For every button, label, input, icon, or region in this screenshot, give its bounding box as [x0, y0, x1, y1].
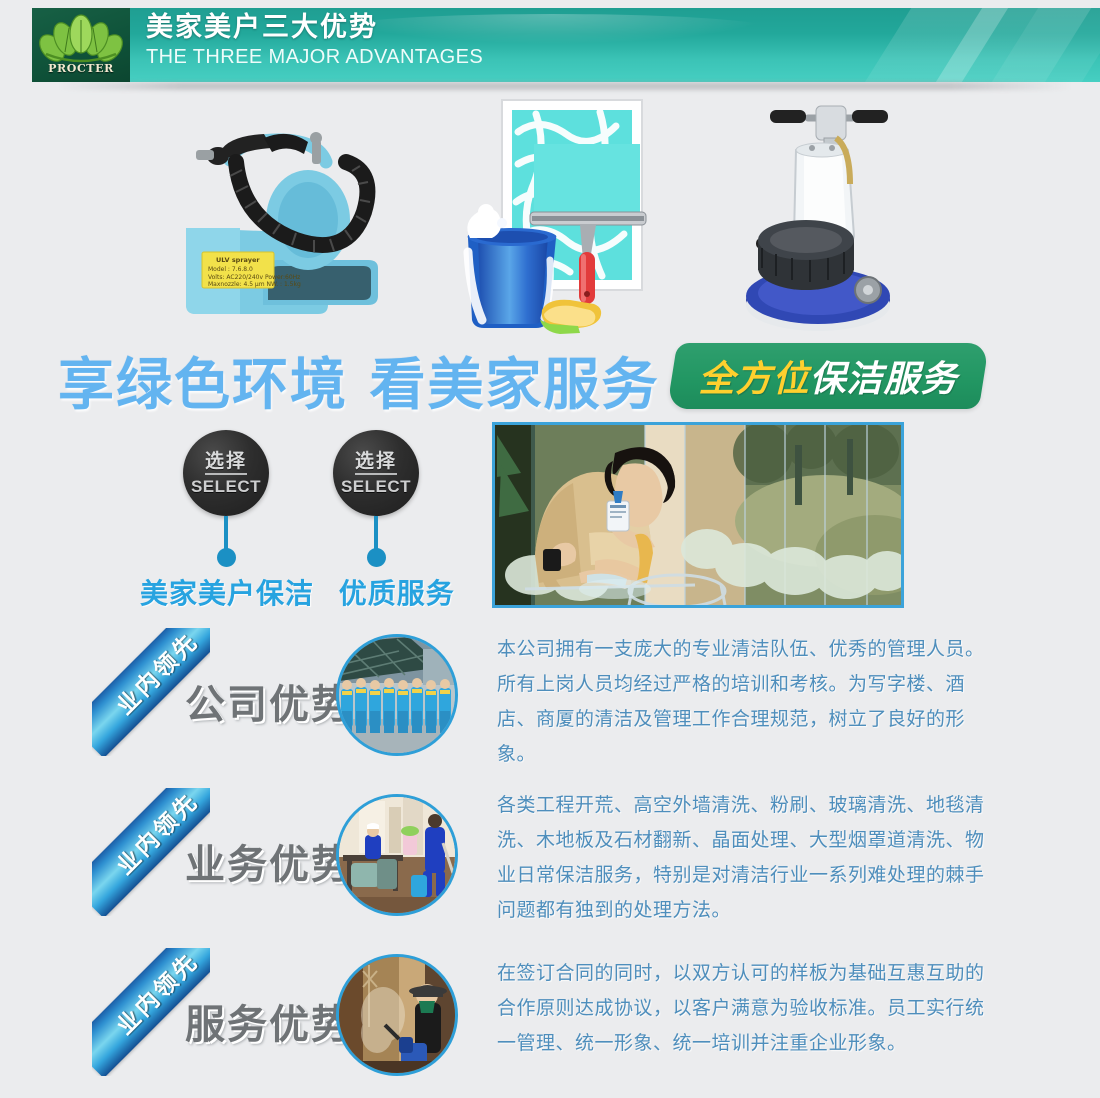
badge-label-row: 美家美户保洁 优质服务 — [140, 572, 455, 612]
header-text-group: 美家美户三大优势 THE THREE MAJOR ADVANTAGES — [146, 12, 483, 70]
advantage-text-1: 本公司拥有一支庞大的专业清洁队伍、优秀的管理人员。所有上岗人员均经过严格的培训和… — [497, 632, 1002, 772]
select-badge-circle[interactable]: 选择 SELECT — [183, 430, 269, 516]
select-badge-en-1: SELECT — [191, 477, 261, 497]
advantage-section-company: 业内领先 公司优势 — [0, 628, 1100, 778]
header-title-cn: 美家美户三大优势 — [146, 12, 483, 44]
svg-text:Model : 7.6.8.0: Model : 7.6.8.0 — [208, 266, 253, 273]
full-service-banner: 全方位 保洁服务 — [667, 343, 989, 409]
advantage-title-2: 业务优势 — [185, 832, 353, 890]
select-badge-circle[interactable]: 选择 SELECT — [333, 430, 419, 516]
brand-logo: PROCTER — [32, 8, 130, 82]
svg-text:Maxnozzle: 4.5 µm NW. : 1.5k: Maxnozzle: 4.5 µm NW. : 1.5kg — [208, 281, 301, 288]
advantage-text-3: 在签订合同的同时，以双方认可的样板为基础互惠互助的合作原则达成协议，以客户满意为… — [497, 956, 1002, 1061]
badge-label-2: 优质服务 — [339, 577, 455, 610]
badge-endpoint-dot — [217, 548, 236, 567]
badge-connector-line — [224, 516, 228, 550]
badge-connector-line — [374, 516, 378, 550]
main-headline: 享绿色环境 看美家服务 — [58, 340, 660, 421]
select-badge-2[interactable]: 选择 SELECT — [333, 430, 419, 567]
advantage-section-business: 业内领先 业务优势 — [0, 788, 1100, 938]
advantage-section-service: 业内领先 服务优势 — [0, 948, 1100, 1098]
advantage-thumb-team — [336, 634, 458, 756]
product-image-ulv-sprayer: ULV sprayer Model : 7.6.8.0 Volts: AC220… — [168, 100, 408, 335]
banner-rest-text: 保洁服务 — [810, 350, 958, 402]
product-image-window-cleaning-kit — [440, 92, 685, 342]
page-header: PROCTER 美家美户三大优势 THE THREE MAJOR ADVANTA… — [0, 0, 1100, 92]
select-badge-1[interactable]: 选择 SELECT — [183, 430, 269, 567]
logo-wordmark: PROCTER — [32, 62, 130, 75]
svg-text:Volts: AC220/240v Power:60Hz: Volts: AC220/240v Power:60Hz — [208, 274, 300, 281]
badge-endpoint-dot — [367, 548, 386, 567]
advantage-title-3: 服务优势 — [185, 992, 353, 1050]
header-title-en: THE THREE MAJOR ADVANTAGES — [146, 44, 483, 70]
select-badge-cn-2: 选择 — [355, 450, 397, 475]
advantage-thumb-spraying — [336, 954, 458, 1076]
product-image-floor-polisher — [700, 88, 930, 338]
svg-text:ULV sprayer: ULV sprayer — [216, 256, 260, 264]
hero-photo-cleaner-at-glass-table — [492, 422, 904, 608]
banner-highlight-text: 全方位 — [698, 350, 809, 402]
advantage-thumb-dining-room — [336, 794, 458, 916]
advantage-title-1: 公司优势 — [185, 672, 353, 730]
select-badge-cn-1: 选择 — [205, 450, 247, 475]
advantage-text-2: 各类工程开荒、高空外墙清洗、粉刷、玻璃清洗、地毯清洗、木地板及石材翻新、晶面处理… — [497, 788, 1002, 928]
leaf-crown-icon — [38, 14, 124, 68]
select-badge-en-2: SELECT — [341, 477, 411, 497]
badge-label-1: 美家美户保洁 — [140, 577, 314, 610]
